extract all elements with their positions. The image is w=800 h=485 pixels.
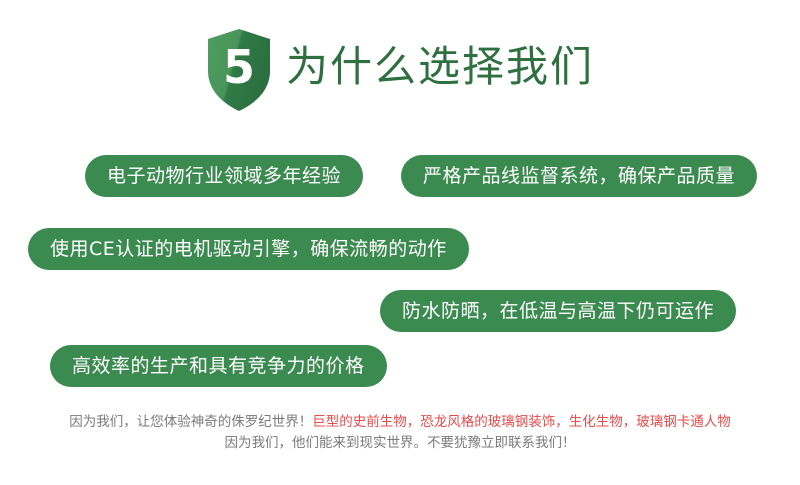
footer-line-1-plain: 因为我们，让您体验神奇的侏罗纪世界！ (69, 414, 312, 430)
header: 5 为什么选择我们 (0, 22, 800, 117)
shield-number: 5 (206, 28, 272, 112)
page-title: 为什么选择我们 (286, 46, 594, 94)
feature-pill-4: 防水防晒，在低温与高温下仍可运作 (380, 290, 736, 332)
feature-pill-5: 高效率的生产和具有竞争力的价格 (50, 345, 387, 387)
shield-badge: 5 (206, 28, 272, 112)
feature-pill-2: 严格产品线监督系统，确保产品质量 (401, 155, 757, 197)
footer-line-1: 因为我们，让您体验神奇的侏罗纪世界！巨型的史前生物，恐龙风格的玻璃钢装饰，生化生… (0, 412, 800, 433)
footer-paragraph: 因为我们，让您体验神奇的侏罗纪世界！巨型的史前生物，恐龙风格的玻璃钢装饰，生化生… (0, 412, 800, 454)
feature-pill-1: 电子动物行业领域多年经验 (85, 155, 363, 197)
feature-pill-3: 使用CE认证的电机驱动引擎，确保流畅的动作 (28, 228, 469, 270)
page-root: 5 为什么选择我们 电子动物行业领域多年经验 严格产品线监督系统，确保产品质量 … (0, 0, 800, 485)
footer-line-1-highlight: 巨型的史前生物，恐龙风格的玻璃钢装饰，生化生物，玻璃钢卡通人物 (312, 414, 731, 430)
footer-line-2: 因为我们，他们能来到现实世界。不要犹豫立即联系我们！ (0, 433, 800, 454)
